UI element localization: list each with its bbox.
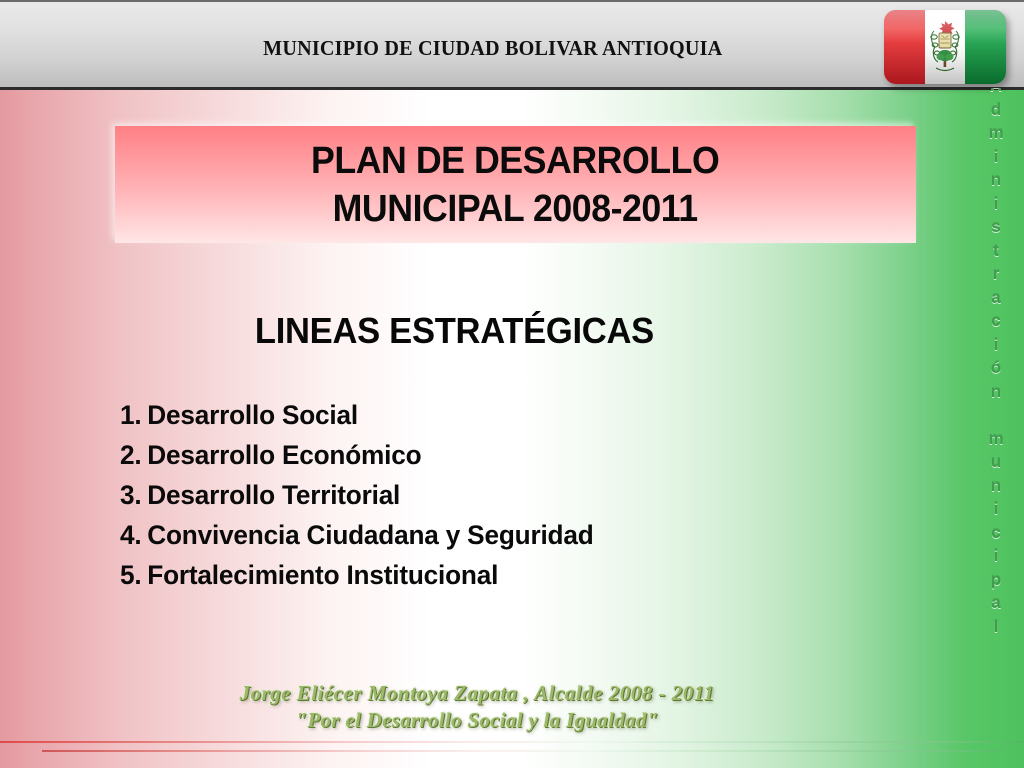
- mayor-signature-line: Jorge Eliécer Montoya Zapata , Alcalde 2…: [0, 680, 954, 706]
- side-vertical-char: i: [994, 497, 999, 521]
- side-vertical-char: i: [994, 145, 999, 169]
- side-vertical-char: n: [991, 168, 1001, 192]
- side-vertical-char: s: [991, 215, 1000, 239]
- side-vertical-char: r: [993, 262, 1000, 286]
- side-vertical-char: t: [993, 239, 999, 263]
- list-item-number: 3.: [120, 480, 141, 510]
- side-vertical-char: m: [988, 427, 1003, 451]
- list-item-label: Desarrollo Territorial: [147, 480, 400, 510]
- list-item: 3.Desarrollo Territorial: [120, 475, 594, 515]
- list-item-number: 4.: [120, 520, 141, 550]
- list-item: 1.Desarrollo Social: [120, 395, 594, 435]
- side-vertical-char: n: [991, 474, 1001, 498]
- banner-line-2: MUNICIPAL 2008-2011: [333, 185, 698, 233]
- header-inner: MUNICIPIO DE CIUDAD BOLIVAR ANTIOQUIA: [0, 2, 1024, 87]
- footer-rule-top: [0, 741, 1024, 743]
- banner-line-1: PLAN DE DESARROLLO: [311, 137, 719, 185]
- header-bar: MUNICIPIO DE CIUDAD BOLIVAR ANTIOQUIA: [0, 0, 1024, 90]
- title-banner: PLAN DE DESARROLLO MUNICIPAL 2008-2011: [115, 126, 916, 243]
- side-vertical-text: Administración municipal: [979, 88, 1013, 768]
- side-vertical-char: n: [991, 380, 1001, 404]
- side-vertical-char: i: [994, 544, 999, 568]
- side-vertical-char: d: [991, 98, 1001, 122]
- list-item-number: 1.: [120, 400, 141, 430]
- side-vertical-char: m: [988, 121, 1003, 145]
- side-vertical-char: a: [991, 286, 1000, 310]
- list-item-number: 5.: [120, 560, 141, 590]
- side-vertical-char: p: [991, 568, 1001, 592]
- municipal-motto: "Por el Desarrollo Social y la Igualdad": [0, 706, 954, 734]
- side-vertical-char: a: [991, 591, 1000, 615]
- footer-signature: Jorge Eliécer Montoya Zapata , Alcalde 2…: [0, 680, 1024, 734]
- list-item: 2.Desarrollo Económico: [120, 435, 594, 475]
- municipality-title: MUNICIPIO DE CIUDAD BOLIVAR ANTIOQUIA: [20, 36, 1003, 61]
- side-vertical-char: i: [994, 192, 999, 216]
- list-item: 4.Convivencia Ciudadana y Seguridad: [120, 515, 594, 555]
- section-heading: LINEAS ESTRATÉGICAS: [20, 310, 1003, 352]
- list-item-label: Desarrollo Social: [147, 400, 358, 430]
- flag-gloss-overlay: [884, 10, 1006, 84]
- list-item-label: Fortalecimiento Institucional: [147, 560, 498, 590]
- list-item: 5.Fortalecimiento Institucional: [120, 555, 594, 595]
- side-vertical-char: c: [991, 521, 1000, 545]
- list-item-number: 2.: [120, 440, 141, 470]
- list-item-label: Desarrollo Económico: [147, 440, 421, 470]
- footer-rule-bottom: [42, 750, 1002, 752]
- strategic-lines-list: 1.Desarrollo Social 2.Desarrollo Económi…: [120, 395, 608, 595]
- side-vertical-space: [994, 403, 999, 427]
- side-vertical-char: u: [991, 450, 1001, 474]
- slide-canvas: MUNICIPIO DE CIUDAD BOLIVAR ANTIOQUIA: [0, 0, 1024, 768]
- municipal-flag-icon: [884, 10, 1006, 84]
- side-vertical-char: l: [994, 615, 999, 639]
- side-vertical-char: ó: [991, 356, 1001, 380]
- list-item-label: Convivencia Ciudadana y Seguridad: [147, 520, 593, 550]
